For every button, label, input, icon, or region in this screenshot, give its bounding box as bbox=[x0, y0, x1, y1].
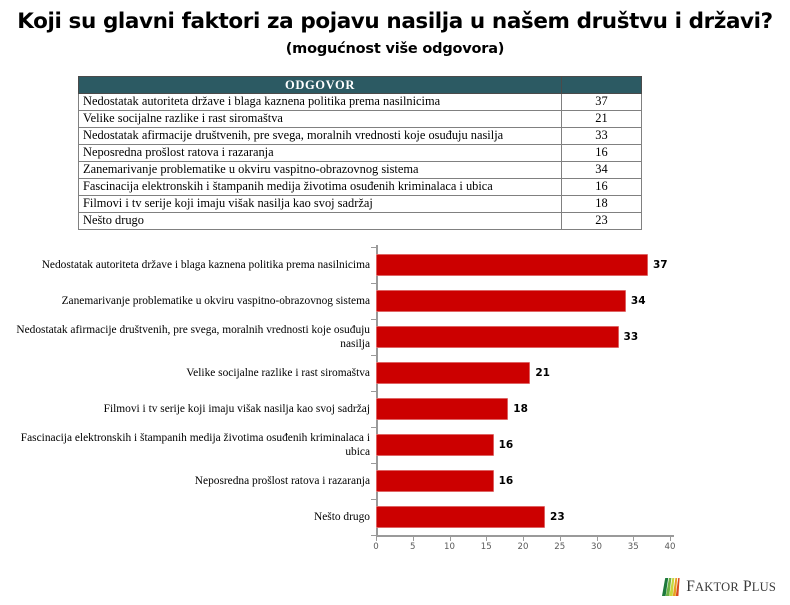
chart-category-label: Neposredna prošlost ratova i razaranja bbox=[10, 474, 376, 488]
chart-bar-value: 34 bbox=[631, 295, 646, 307]
cell-answer: Velike socijalne razlike i rast siromašt… bbox=[79, 111, 562, 128]
chart-x-tick bbox=[670, 536, 671, 541]
column-header-answer: ODGOVOR bbox=[79, 77, 562, 94]
chart-bar-row: Neposredna prošlost ratova i razaranja16 bbox=[10, 463, 680, 499]
cell-value: 34 bbox=[562, 162, 642, 179]
answers-table-header-row: ODGOVOR bbox=[79, 77, 642, 94]
chart-bar-row: Zanemarivanje problematike u okviru vasp… bbox=[10, 283, 680, 319]
chart-x-tick bbox=[413, 536, 414, 541]
table-row: Velike socijalne razlike i rast siromašt… bbox=[79, 111, 642, 128]
chart-category-label: Velike socijalne razlike i rast siromašt… bbox=[10, 366, 376, 380]
chart-x-tick bbox=[450, 536, 451, 541]
chart-bar-track: 23 bbox=[376, 505, 680, 529]
chart-bar-value: 37 bbox=[653, 259, 668, 271]
chart-bar-value: 33 bbox=[624, 331, 639, 343]
chart-bar bbox=[376, 362, 530, 384]
bar-chart: Nedostatak autoriteta države i blaga kaz… bbox=[0, 245, 790, 565]
cell-value: 21 bbox=[562, 111, 642, 128]
cell-value: 37 bbox=[562, 94, 642, 111]
chart-x-tick-label: 20 bbox=[518, 542, 529, 552]
cell-answer: Fascinacija elektronskih i štampanih med… bbox=[79, 179, 562, 196]
column-header-value bbox=[562, 77, 642, 94]
faktor-plus-logo-icon bbox=[661, 577, 680, 597]
chart-category-label: Filmovi i tv serije koji imaju višak nas… bbox=[10, 402, 376, 416]
table-row: Nedostatak afirmacije društvenih, pre sv… bbox=[79, 128, 642, 145]
table-row: Filmovi i tv serije koji imaju višak nas… bbox=[79, 196, 642, 213]
chart-y-tick bbox=[371, 463, 377, 464]
page-subtitle: (mogućnost više odgovora) bbox=[0, 41, 790, 57]
chart-plot-area: Nedostatak autoriteta države i blaga kaz… bbox=[10, 245, 680, 541]
table-row: Neposredna prošlost ratova i razaranja16 bbox=[79, 145, 642, 162]
chart-bar bbox=[376, 254, 648, 276]
logo-stripes-icon bbox=[661, 577, 680, 597]
chart-x-tick bbox=[560, 536, 561, 541]
chart-bar bbox=[376, 326, 619, 348]
chart-x-tick-label: 35 bbox=[628, 542, 639, 552]
table-row: Nešto drugo23 bbox=[79, 213, 642, 230]
chart-y-tick bbox=[371, 355, 377, 356]
cell-answer: Filmovi i tv serije koji imaju višak nas… bbox=[79, 196, 562, 213]
chart-bar-track: 21 bbox=[376, 361, 680, 385]
brand-logo-word-1-rest: AKTOR bbox=[695, 580, 739, 594]
chart-y-tick bbox=[371, 427, 377, 428]
chart-bar-value: 23 bbox=[550, 511, 565, 523]
chart-y-tick bbox=[371, 283, 377, 284]
cell-value: 16 bbox=[562, 145, 642, 162]
chart-bar-track: 33 bbox=[376, 325, 680, 349]
chart-x-tick bbox=[376, 536, 377, 541]
chart-y-tick bbox=[371, 499, 377, 500]
chart-bar-row: Velike socijalne razlike i rast siromašt… bbox=[10, 355, 680, 391]
chart-bar-track: 16 bbox=[376, 469, 680, 493]
chart-bar-row: Nedostatak afirmacije društvenih, pre sv… bbox=[10, 319, 680, 355]
chart-bar-track: 37 bbox=[376, 253, 680, 277]
chart-bar-value: 16 bbox=[499, 439, 514, 451]
chart-x-tick bbox=[633, 536, 634, 541]
chart-bar bbox=[376, 434, 494, 456]
cell-answer: Zanemarivanje problematike u okviru vasp… bbox=[79, 162, 562, 179]
chart-y-tick bbox=[371, 319, 377, 320]
table-row: Zanemarivanje problematike u okviru vasp… bbox=[79, 162, 642, 179]
chart-category-label: Nedostatak afirmacije društvenih, pre sv… bbox=[10, 323, 376, 352]
chart-x-tick-label: 0 bbox=[373, 542, 378, 552]
chart-x-tick-label: 15 bbox=[481, 542, 492, 552]
chart-category-label: Nedostatak autoriteta države i blaga kaz… bbox=[10, 258, 376, 272]
chart-x-tick bbox=[597, 536, 598, 541]
cell-value: 23 bbox=[562, 213, 642, 230]
chart-x-tick-label: 10 bbox=[444, 542, 455, 552]
chart-x-tick bbox=[523, 536, 524, 541]
answers-table-head: ODGOVOR bbox=[79, 77, 642, 94]
chart-bar-track: 34 bbox=[376, 289, 680, 313]
chart-x-tick-label: 5 bbox=[410, 542, 415, 552]
brand-logo-word-1: F bbox=[686, 578, 695, 595]
cell-value: 33 bbox=[562, 128, 642, 145]
answers-table-container: ODGOVOR Nedostatak autoriteta države i b… bbox=[78, 76, 642, 230]
chart-bar-row: Nešto drugo23 bbox=[10, 499, 680, 535]
brand-logo: FAKTOR PLUS bbox=[661, 577, 776, 597]
chart-category-label: Nešto drugo bbox=[10, 510, 376, 524]
chart-bar bbox=[376, 398, 508, 420]
answers-table-body: Nedostatak autoriteta države i blaga kaz… bbox=[79, 94, 642, 230]
chart-x-tick bbox=[486, 536, 487, 541]
cell-answer: Nedostatak autoriteta države i blaga kaz… bbox=[79, 94, 562, 111]
chart-x-tick-label: 25 bbox=[554, 542, 565, 552]
chart-bar bbox=[376, 506, 545, 528]
chart-bar-row: Fascinacija elektronskih i štampanih med… bbox=[10, 427, 680, 463]
chart-bar bbox=[376, 290, 626, 312]
chart-y-tick bbox=[371, 391, 377, 392]
chart-bar bbox=[376, 470, 494, 492]
cell-answer: Nedostatak afirmacije društvenih, pre sv… bbox=[79, 128, 562, 145]
chart-category-label: Fascinacija elektronskih i štampanih med… bbox=[10, 431, 376, 460]
chart-category-label: Zanemarivanje problematike u okviru vasp… bbox=[10, 294, 376, 308]
chart-x-tick-label: 30 bbox=[591, 542, 602, 552]
answers-table: ODGOVOR Nedostatak autoriteta države i b… bbox=[78, 76, 642, 230]
cell-answer: Nešto drugo bbox=[79, 213, 562, 230]
table-row: Fascinacija elektronskih i štampanih med… bbox=[79, 179, 642, 196]
chart-bar-track: 18 bbox=[376, 397, 680, 421]
chart-bar-value: 16 bbox=[499, 475, 514, 487]
chart-bar-row: Nedostatak autoriteta države i blaga kaz… bbox=[10, 247, 680, 283]
brand-logo-text: FAKTOR PLUS bbox=[686, 578, 776, 596]
chart-bar-value: 18 bbox=[513, 403, 528, 415]
chart-x-tick-label: 40 bbox=[665, 542, 676, 552]
brand-logo-word-2-rest: LUS bbox=[752, 580, 776, 594]
chart-bar-row: Filmovi i tv serije koji imaju višak nas… bbox=[10, 391, 680, 427]
brand-logo-word-2: P bbox=[743, 578, 752, 595]
cell-value: 18 bbox=[562, 196, 642, 213]
chart-x-axis bbox=[376, 535, 674, 537]
chart-bar-value: 21 bbox=[535, 367, 550, 379]
page-title-block: Koji su glavni faktori za pojavu nasilja… bbox=[0, 0, 790, 57]
page-title: Koji su glavni faktori za pojavu nasilja… bbox=[0, 10, 790, 34]
cell-value: 16 bbox=[562, 179, 642, 196]
cell-answer: Neposredna prošlost ratova i razaranja bbox=[79, 145, 562, 162]
chart-y-tick bbox=[371, 247, 377, 248]
chart-bar-track: 16 bbox=[376, 433, 680, 457]
table-row: Nedostatak autoriteta države i blaga kaz… bbox=[79, 94, 642, 111]
